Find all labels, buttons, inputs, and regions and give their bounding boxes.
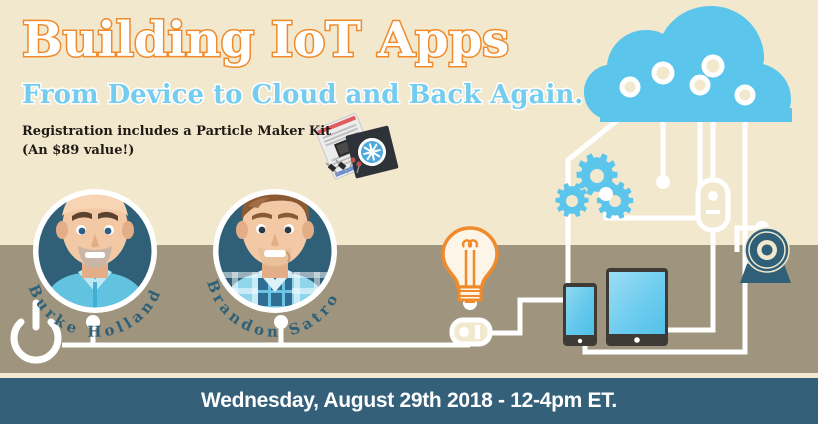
node-5 — [737, 87, 753, 103]
date-banner: Wednesday, August 29th 2018 - 12-4pm ET. — [0, 378, 818, 424]
registration-note-line2: (An $89 value!) — [22, 141, 331, 160]
page-title: Building IoT Apps — [22, 14, 509, 66]
node-2 — [654, 64, 672, 82]
cloud-icon — [584, 6, 792, 122]
switch-icon[interactable] — [452, 320, 490, 344]
node-4 — [704, 57, 722, 75]
promo-banner: Burke Holland Brandon Satrom Building Io… — [0, 0, 818, 424]
registration-note-line1: Registration includes a Particle Maker K… — [22, 122, 331, 141]
phone-icon — [563, 283, 597, 346]
date-text: Wednesday, August 29th 2018 - 12-4pm ET. — [201, 389, 617, 413]
avatar-burke-holland — [33, 188, 157, 320]
avatar-brandon-satrom — [213, 180, 337, 322]
page-subtitle: From Device to Cloud and Back Again. — [22, 80, 583, 110]
webcam-icon — [740, 228, 791, 283]
lightbulb-icon — [443, 228, 497, 303]
registration-note: Registration includes a Particle Maker K… — [22, 122, 331, 160]
node-1 — [622, 79, 638, 95]
tablet-icon — [606, 268, 668, 346]
node-3 — [692, 77, 708, 93]
sensor-icon — [698, 180, 728, 230]
